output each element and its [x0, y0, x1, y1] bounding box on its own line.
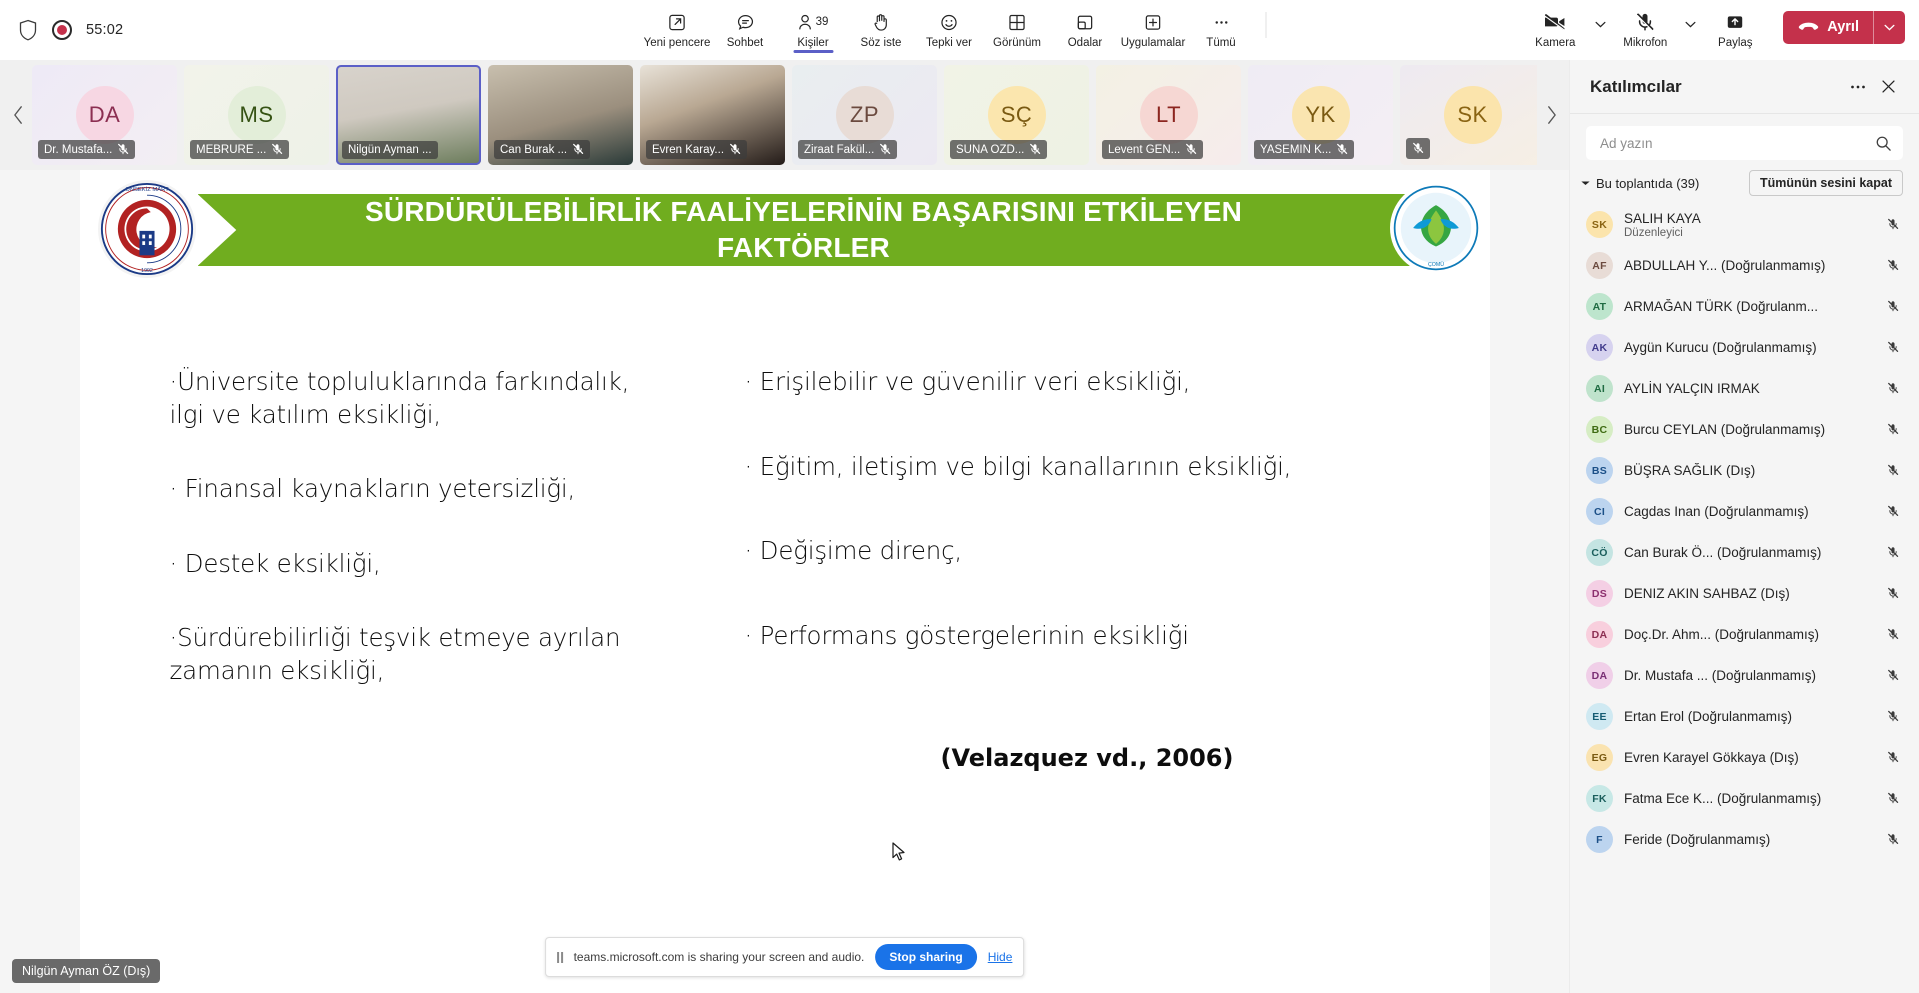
mic-off-icon[interactable]: [1883, 259, 1903, 272]
slide-bullet: · Performans göstergelerinin eksikliği: [745, 620, 1430, 653]
participant-name-wrap: AYLİN YALÇIN IRMAK: [1624, 381, 1872, 396]
participant-row[interactable]: CÖCan Burak Ö... (Doğrulanmamış): [1570, 532, 1919, 573]
tile-name-chip: Can Burak ...: [494, 140, 590, 159]
participant-name-wrap: SALIH KAYADüzenleyici: [1624, 211, 1872, 239]
participant-name: Cagdas Inan (Doğrulanmamış): [1624, 504, 1872, 519]
leave-options-chevron-down-icon[interactable]: [1874, 11, 1905, 44]
avatar: YK: [1292, 86, 1350, 144]
filmstrip-tile[interactable]: YKYASEMİN K...: [1248, 65, 1393, 165]
slide-bullet: · Finansal kaynakların yetersizliği,: [170, 473, 660, 506]
mic-options-chevron-down-icon[interactable]: [1679, 12, 1701, 52]
participants-panel-title: Katılımcılar: [1590, 77, 1682, 97]
participant-name: BÜŞRA SAĞLIK (Dış): [1624, 463, 1872, 478]
slide-bullet: · Destek eksikliği,: [170, 548, 660, 581]
mic-off-icon[interactable]: [1883, 423, 1903, 436]
speaker-name-tooltip: Nilgün Ayman ÖZ (Dış): [12, 959, 160, 983]
university-seal-logo: ONSEKİZ MART 1992: [98, 180, 196, 278]
participant-name: Fatma Ece K... (Doğrulanmamış): [1624, 791, 1872, 806]
slide-title-bar: SÜRDÜRÜLEBİLİRLİK FAALİYELERİNİN BAŞARIS…: [198, 194, 1410, 266]
mic-off-icon: [1029, 143, 1041, 156]
avatar: BS: [1586, 457, 1613, 484]
participant-row[interactable]: DADr. Mustafa ... (Doğrulanmamış): [1570, 655, 1919, 696]
group-chevron-down-icon[interactable]: [1580, 179, 1591, 187]
filmstrip-tile[interactable]: ZPZiraat Fakül...: [792, 65, 937, 165]
avatar: BC: [1586, 416, 1613, 443]
mic-off-icon[interactable]: [1883, 505, 1903, 518]
participant-row[interactable]: BSBÜŞRA SAĞLIK (Dış): [1570, 450, 1919, 491]
share-screen-icon: [1724, 11, 1746, 34]
tile-name-label: SUNA ÖZD...: [956, 144, 1024, 156]
filmstrip-tile[interactable]: SÇSUNA ÖZD...: [944, 65, 1089, 165]
toolbar-chat[interactable]: Sohbet: [711, 9, 779, 52]
tile-name-label: Nilgün Ayman ...: [348, 144, 432, 156]
avatar: FK: [1586, 785, 1613, 812]
tile-name-chip: Ziraat Fakül...: [798, 140, 897, 159]
participants-panel-header: Katılımcılar: [1570, 60, 1919, 114]
tile-name-label: Evren Karay...: [652, 144, 724, 156]
mic-off-icon: [1406, 138, 1430, 159]
tile-name-label: Ziraat Fakül...: [804, 144, 874, 156]
participant-filmstrip: DADr. Mustafa...MSMEBRURE ...Nilgün Ayma…: [0, 60, 1569, 170]
participant-name: DENIZ AKIN SAHBAZ (Dış): [1624, 586, 1872, 601]
filmstrip-tile[interactable]: LTLevent GEN...: [1096, 65, 1241, 165]
participant-name: Dr. Mustafa ... (Doğrulanmamış): [1624, 668, 1872, 683]
filmstrip-tile[interactable]: Evren Karay...: [640, 65, 785, 165]
slide-left-column: ·Üniversite topluluklarında farkındalık,…: [140, 366, 660, 775]
tile-name-chip: Nilgün Ayman ...: [342, 141, 438, 159]
meeting-timer: 55:02: [86, 22, 123, 38]
participant-name: ARMAĞAN TÜRK (Doğrulanm...: [1624, 299, 1872, 314]
record-icon: [52, 20, 72, 40]
participants-more-ellipsis-icon[interactable]: [1843, 72, 1873, 102]
avatar: DS: [1586, 580, 1613, 607]
toolbar-microphone[interactable]: Mikrofon: [1611, 9, 1679, 52]
toolbar-apps[interactable]: Uygulamalar: [1119, 9, 1187, 52]
mic-off-icon[interactable]: [1883, 587, 1903, 600]
toolbar-apps-label: Uygulamalar: [1121, 37, 1186, 49]
filmstrip-tile[interactable]: Nilgün Ayman ...: [336, 65, 481, 165]
toolbar-reaction-label: Tepki ver: [926, 37, 972, 49]
avatar: CÖ: [1586, 539, 1613, 566]
participant-name: Ertan Erol (Doğrulanmamış): [1624, 709, 1872, 724]
avatar: ZP: [836, 86, 894, 144]
toolbar-new-window[interactable]: Yeni pencere: [643, 9, 711, 52]
toolbar-people-label: Kişiler: [797, 37, 828, 49]
participants-group-row: Bu toplantıda (39) Tümünün sesini kapat: [1570, 168, 1919, 202]
participants-search-box[interactable]: [1586, 126, 1903, 160]
mic-off-icon[interactable]: [1883, 218, 1903, 231]
participant-name-wrap: DENIZ AKIN SAHBAZ (Dış): [1624, 586, 1872, 601]
filmstrip-tile[interactable]: DADr. Mustafa...: [32, 65, 177, 165]
pause-icon: [557, 952, 563, 963]
participant-row[interactable]: AIAYLİN YALÇIN IRMAK: [1570, 368, 1919, 409]
toolbar-people[interactable]: 39 Kişiler: [779, 9, 847, 52]
participant-name: Evren Karayel Gökkaya (Dış): [1624, 750, 1872, 765]
avatar: AT: [1586, 293, 1613, 320]
participant-row[interactable]: EGEvren Karayel Gökkaya (Dış): [1570, 737, 1919, 778]
toolbar-chat-label: Sohbet: [727, 37, 763, 49]
toolbar-rooms[interactable]: Odalar: [1051, 9, 1119, 52]
teams-meeting-window: 55:02 Yeni pencere Sohbet 39 Kişi: [0, 0, 1919, 993]
tile-name-chip: Dr. Mustafa...: [38, 140, 135, 159]
avatar: EE: [1586, 703, 1613, 730]
camera-off-icon: [1543, 11, 1567, 34]
toolbar-raise-hand-label: Söz iste: [861, 37, 902, 49]
tile-name-label: Dr. Mustafa...: [44, 144, 112, 156]
participant-row[interactable]: AKAygün Kurucu (Doğrulanmamış): [1570, 327, 1919, 368]
participant-row[interactable]: BCBurcu CEYLAN (Doğrulanmamış): [1570, 409, 1919, 450]
toolbar-camera-label: Kamera: [1535, 37, 1575, 49]
avatar: DA: [1586, 662, 1613, 689]
participant-row[interactable]: ATARMAĞAN TÜRK (Doğrulanm...: [1570, 286, 1919, 327]
tile-name-chip: YASEMİN K...: [1254, 140, 1354, 159]
participant-row[interactable]: AFABDULLAH Y... (Doğrulanmamış): [1570, 245, 1919, 286]
mic-off-icon: [572, 143, 584, 156]
avatar: AK: [1586, 334, 1613, 361]
toolbar-view[interactable]: Görünüm: [983, 9, 1051, 52]
participants-list[interactable]: SKSALIH KAYADüzenleyiciAFABDULLAH Y... (…: [1570, 202, 1919, 993]
mic-off-icon[interactable]: [1883, 669, 1903, 682]
svg-text:ÇOMÜ: ÇOMÜ: [1427, 261, 1443, 268]
slide-right-column: · Erişilebilir ve güvenilir veri eksikli…: [690, 366, 1430, 775]
mic-off-icon[interactable]: [1883, 751, 1903, 764]
mic-off-icon: [879, 143, 891, 156]
svg-text:ONSEKİZ MART: ONSEKİZ MART: [125, 186, 169, 193]
mic-off-icon[interactable]: [1883, 792, 1903, 805]
participant-name: ABDULLAH Y... (Doğrulanmamış): [1624, 258, 1872, 273]
apps-plus-icon: [1144, 11, 1163, 34]
toolbar-left-group: 55:02: [0, 19, 300, 41]
participant-name-wrap: Evren Karayel Gökkaya (Dış): [1624, 750, 1872, 765]
rooms-icon: [1076, 11, 1095, 34]
participant-name-wrap: Cagdas Inan (Doğrulanmamış): [1624, 504, 1872, 519]
participant-name: Can Burak Ö... (Doğrulanmamış): [1624, 545, 1872, 560]
mic-off-icon[interactable]: [1883, 546, 1903, 559]
leave-button[interactable]: Ayrıl: [1783, 11, 1905, 44]
slide-title: SÜRDÜRÜLEBİLİRLİK FAALİYELERİNİN BAŞARIS…: [198, 194, 1410, 266]
hide-share-link[interactable]: Hide: [988, 950, 1013, 964]
participant-row[interactable]: DSDENIZ AKIN SAHBAZ (Dış): [1570, 573, 1919, 614]
filmstrip-tiles: DADr. Mustafa...MSMEBRURE ...Nilgün Ayma…: [32, 60, 1537, 170]
avatar: CI: [1586, 498, 1613, 525]
shield-icon: [18, 19, 38, 41]
participant-name: SALIH KAYA: [1624, 211, 1872, 226]
meeting-toolbar: 55:02 Yeni pencere Sohbet 39 Kişi: [0, 0, 1919, 60]
tile-name-chip: SUNA ÖZD...: [950, 140, 1047, 159]
meeting-stage: DADr. Mustafa...MSMEBRURE ...Nilgün Ayma…: [0, 60, 1919, 993]
tile-name-chip: Evren Karay...: [646, 140, 747, 159]
more-ellipsis-icon: [1211, 11, 1231, 34]
participant-name-wrap: Ertan Erol (Doğrulanmamış): [1624, 709, 1872, 724]
participants-panel: Katılımcılar: [1569, 60, 1919, 993]
toolbar-reaction[interactable]: Tepki ver: [915, 9, 983, 52]
people-count: 39: [816, 16, 829, 28]
tile-name-label: Levent GEN...: [1108, 144, 1180, 156]
filmstrip-tile[interactable]: MSMEBRURE ...: [184, 65, 329, 165]
reaction-icon: [940, 11, 959, 34]
participant-name-wrap: Feride (Doğrulanmamış): [1624, 832, 1872, 847]
screen-share-notification: teams.microsoft.com is sharing your scre…: [545, 937, 1025, 977]
hangup-icon: [1798, 21, 1819, 33]
tile-name-label: Can Burak ...: [500, 144, 567, 156]
toolbar-more[interactable]: Tümü: [1187, 9, 1255, 52]
avatar: SK: [1586, 211, 1613, 238]
toolbar-more-label: Tümü: [1206, 37, 1235, 49]
share-message: teams.microsoft.com is sharing your scre…: [574, 950, 865, 964]
toolbar-raise-hand[interactable]: Söz iste: [847, 9, 915, 52]
chat-icon: [735, 11, 755, 34]
participant-name-wrap: Dr. Mustafa ... (Doğrulanmamış): [1624, 668, 1872, 683]
avatar: F: [1586, 826, 1613, 853]
tile-name-label: YASEMİN K...: [1260, 144, 1331, 156]
tile-name-chip: MEBRURE ...: [190, 140, 289, 159]
avatar: DA: [76, 86, 134, 144]
slide-bullet: ·Üniversite topluluklarında farkındalık,…: [170, 366, 660, 431]
toolbar-new-window-label: Yeni pencere: [644, 37, 711, 49]
mic-off-icon: [1185, 143, 1197, 156]
participant-role: Düzenleyici: [1624, 227, 1872, 239]
participant-name: Aygün Kurucu (Doğrulanmamış): [1624, 340, 1872, 355]
toolbar-microphone-label: Mikrofon: [1623, 37, 1667, 49]
leave-button-label: Ayrıl: [1827, 19, 1859, 35]
mic-off-icon: [271, 143, 283, 156]
new-window-icon: [668, 11, 687, 34]
filmstrip-next-button[interactable]: [1537, 60, 1565, 170]
mute-all-button[interactable]: Tümünün sesini kapat: [1749, 170, 1903, 196]
mic-off-icon[interactable]: [1883, 833, 1903, 846]
toolbar-view-label: Görünüm: [993, 37, 1041, 49]
mic-off-icon: [1336, 143, 1348, 156]
participant-name-wrap: ARMAĞAN TÜRK (Doğrulanm...: [1624, 299, 1872, 314]
toolbar-share[interactable]: Paylaş: [1701, 9, 1769, 52]
participant-name: Feride (Doğrulanmamış): [1624, 832, 1872, 847]
avatar: AI: [1586, 375, 1613, 402]
filmstrip-prev-button[interactable]: [4, 60, 32, 170]
participant-name-wrap: BÜŞRA SAĞLIK (Dış): [1624, 463, 1872, 478]
mouse-cursor: [892, 842, 906, 860]
participant-name-wrap: ABDULLAH Y... (Doğrulanmamış): [1624, 258, 1872, 273]
search-input[interactable]: [1600, 136, 1875, 151]
participants-group-label: Bu toplantıda (39): [1596, 176, 1699, 191]
avatar: SK: [1444, 86, 1502, 144]
avatar: AF: [1586, 252, 1613, 279]
mic-off-icon[interactable]: [1883, 464, 1903, 477]
svg-text:1992: 1992: [141, 268, 153, 274]
slide-citation: (Velazquez vd., 2006): [745, 742, 1430, 774]
participant-name: AYLİN YALÇIN IRMAK: [1624, 381, 1872, 396]
stage-main: DADr. Mustafa...MSMEBRURE ...Nilgün Ayma…: [0, 60, 1569, 993]
slide-bullet: ·Sürdürebilirliği teşvik etmeye ayrılan …: [170, 622, 660, 687]
slide-bullet: · Değişime direnç,: [745, 535, 1430, 568]
toolbar-share-label: Paylaş: [1718, 37, 1753, 49]
slide-bullet: · Eğitim, iletişim ve bilgi kanallarının…: [745, 451, 1430, 484]
slide-banner: SÜRDÜRÜLEBİLİRLİK FAALİYELERİNİN BAŞARIS…: [80, 180, 1490, 280]
participant-name-wrap: Doç.Dr. Ahm... (Doğrulanmamış): [1624, 627, 1872, 642]
leave-button-main[interactable]: Ayrıl: [1783, 11, 1873, 44]
participant-name: Doç.Dr. Ahm... (Doğrulanmamış): [1624, 627, 1872, 642]
slide-bullet: · Erişilebilir ve güvenilir veri eksikli…: [745, 366, 1430, 399]
filmstrip-tile[interactable]: SK: [1400, 65, 1537, 165]
people-icon: 39: [798, 11, 829, 34]
participants-search-row: [1570, 114, 1919, 168]
participant-name: Burcu CEYLAN (Doğrulanmamış): [1624, 422, 1872, 437]
tile-name-label: MEBRURE ...: [196, 144, 266, 156]
view-grid-icon: [1008, 11, 1027, 34]
participant-row[interactable]: DADoç.Dr. Ahm... (Doğrulanmamış): [1570, 614, 1919, 655]
mic-off-icon[interactable]: [1883, 341, 1903, 354]
avatar: EG: [1586, 744, 1613, 771]
avatar: SÇ: [988, 86, 1046, 144]
raise-hand-icon: [873, 11, 890, 34]
participant-row[interactable]: CICagdas Inan (Doğrulanmamış): [1570, 491, 1919, 532]
participant-row[interactable]: SKSALIH KAYADüzenleyici: [1570, 204, 1919, 245]
participant-name-wrap: Burcu CEYLAN (Doğrulanmamış): [1624, 422, 1872, 437]
mic-off-icon[interactable]: [1883, 300, 1903, 313]
participant-row[interactable]: FFeride (Doğrulanmamış): [1570, 819, 1919, 860]
mic-off-icon: [117, 143, 129, 156]
mic-off-icon: [1635, 11, 1655, 34]
shared-screen-area: SÜRDÜRÜLEBİLİRLİK FAALİYELERİNİN BAŞARIS…: [0, 170, 1569, 993]
camera-options-chevron-down-icon[interactable]: [1589, 12, 1611, 52]
sustainability-office-logo: ÇOMÜ: [1390, 182, 1482, 274]
mic-off-icon: [729, 143, 741, 156]
toolbar-actions: Yeni pencere Sohbet 39 Kişiler Söz is: [643, 9, 1276, 52]
mic-off-icon[interactable]: [1883, 382, 1903, 395]
participants-close-icon[interactable]: [1873, 72, 1903, 102]
slide-body: ·Üniversite topluluklarında farkındalık,…: [80, 280, 1490, 775]
avatar: LT: [1140, 86, 1198, 144]
stop-sharing-button[interactable]: Stop sharing: [875, 944, 976, 970]
mic-off-icon[interactable]: [1883, 710, 1903, 723]
participant-row[interactable]: FKFatma Ece K... (Doğrulanmamış): [1570, 778, 1919, 819]
toolbar-camera[interactable]: Kamera: [1521, 9, 1589, 52]
avatar: MS: [228, 86, 286, 144]
toolbar-divider: [1265, 12, 1266, 38]
participant-row[interactable]: EEErtan Erol (Doğrulanmamış): [1570, 696, 1919, 737]
search-icon[interactable]: [1875, 135, 1892, 152]
mic-off-icon[interactable]: [1883, 628, 1903, 641]
presentation-slide: SÜRDÜRÜLEBİLİRLİK FAALİYELERİNİN BAŞARIS…: [80, 170, 1490, 993]
toolbar-rooms-label: Odalar: [1068, 37, 1103, 49]
filmstrip-tile[interactable]: Can Burak ...: [488, 65, 633, 165]
toolbar-call-controls: Kamera Mikrofon Paylaş: [1521, 9, 1919, 52]
tile-name-chip: Levent GEN...: [1102, 140, 1203, 159]
avatar: DA: [1586, 621, 1613, 648]
participant-name-wrap: Can Burak Ö... (Doğrulanmamış): [1624, 545, 1872, 560]
participant-name-wrap: Fatma Ece K... (Doğrulanmamış): [1624, 791, 1872, 806]
participant-name-wrap: Aygün Kurucu (Doğrulanmamış): [1624, 340, 1872, 355]
